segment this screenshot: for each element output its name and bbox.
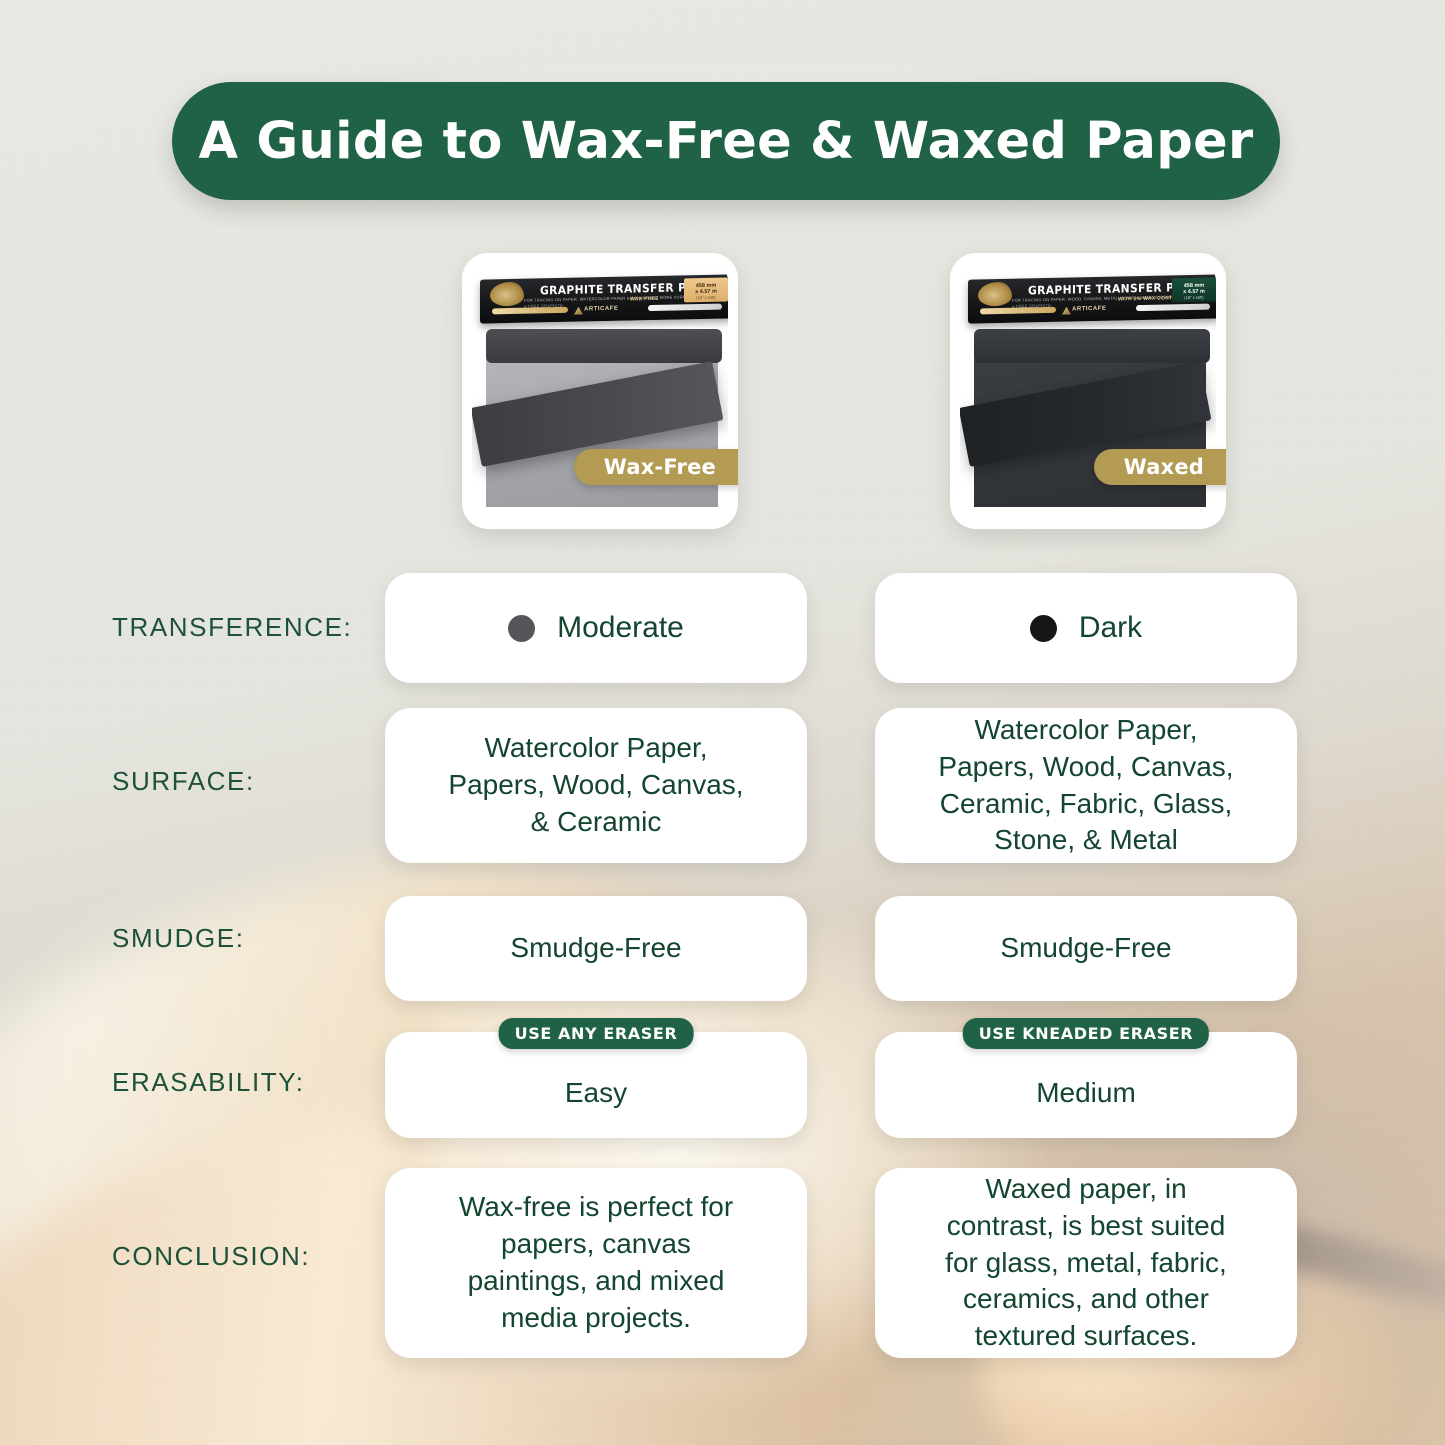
cell-conclusion-wax-free: Wax-free is perfect for papers, canvas p…: [385, 1168, 807, 1358]
row-label-surface: SURFACE:: [112, 766, 255, 797]
value-conclusion-left: Wax-free is perfect for papers, canvas p…: [459, 1189, 733, 1337]
cell-smudge-wax-free: Smudge-Free: [385, 896, 807, 1001]
lion-logo-icon: [490, 282, 524, 307]
box-spec-line3-right: (18" x 15ft): [1172, 294, 1216, 300]
box-white-bar-right: [1136, 304, 1210, 312]
product-badge-waxed: Waxed: [1094, 449, 1226, 485]
box-brand-right: ARTICAFE: [1072, 306, 1106, 313]
cell-erasability-wax-free: USE ANY ERASER Easy: [385, 1032, 807, 1138]
box-white-bar-left: [648, 304, 722, 312]
brand-mark-icon: [1062, 306, 1071, 314]
box-wax-label-left: WAX-FREE: [630, 296, 659, 303]
sheet-roll-left: [486, 329, 722, 363]
title-banner: A Guide to Wax-Free & Waxed Paper: [172, 82, 1280, 200]
value-erasability-right: Medium: [1036, 1075, 1136, 1112]
cell-surface-wax-free: Watercolor Paper, Papers, Wood, Canvas, …: [385, 708, 807, 863]
dot-value-right: Dark: [1030, 608, 1142, 648]
product-box-waxed: GRAPHITE TRANSFER PAPER FOR TRACING ON P…: [968, 274, 1216, 323]
transference-dot-icon-right: [1030, 615, 1057, 642]
product-card-wax-free[interactable]: GRAPHITE TRANSFER PAPER FOR TRACING ON P…: [462, 253, 738, 529]
row-label-transference: TRANSFERENCE:: [112, 612, 352, 643]
cell-surface-waxed: Watercolor Paper, Papers, Wood, Canvas, …: [875, 708, 1297, 863]
value-conclusion-right: Waxed paper, in contrast, is best suited…: [945, 1171, 1227, 1356]
product-badge-label-right: Waxed: [1124, 455, 1204, 479]
cell-transference-wax-free: Moderate: [385, 573, 807, 683]
box-brand-left: ARTICAFE: [584, 306, 618, 313]
box-spec-left: 458 mm x 4.57 m (18" x 15ft): [684, 277, 728, 302]
box-spec-right: 458 mm x 4.57 m (18" x 15ft): [1172, 277, 1216, 302]
title-pill: A Guide to Wax-Free & Waxed Paper: [172, 82, 1280, 200]
product-badge-label-left: Wax-Free: [604, 455, 716, 479]
cell-transference-waxed: Dark: [875, 573, 1297, 683]
box-spec-line3-left: (18" x 15ft): [684, 294, 728, 300]
eraser-badge-right: USE KNEADED ERASER: [963, 1018, 1209, 1049]
box-color-bar-left: [492, 307, 568, 315]
page-title: A Guide to Wax-Free & Waxed Paper: [199, 112, 1254, 171]
row-label-erasability: ERASABILITY:: [112, 1067, 305, 1098]
product-badge-wax-free: Wax-Free: [574, 449, 738, 485]
value-transference-right: Dark: [1079, 608, 1142, 648]
product-box-wax-free: GRAPHITE TRANSFER PAPER FOR TRACING ON P…: [480, 274, 728, 323]
dot-value-left: Moderate: [508, 608, 684, 648]
eraser-badge-left: USE ANY ERASER: [499, 1018, 694, 1049]
box-color-bar-right: [980, 307, 1056, 315]
value-smudge-right: Smudge-Free: [1000, 930, 1171, 967]
value-transference-left: Moderate: [557, 608, 684, 648]
cell-smudge-waxed: Smudge-Free: [875, 896, 1297, 1001]
row-label-conclusion: CONCLUSION:: [112, 1241, 310, 1272]
value-smudge-left: Smudge-Free: [510, 930, 681, 967]
lion-logo-icon: [978, 282, 1012, 307]
brand-mark-icon: [574, 306, 583, 314]
value-erasability-left: Easy: [565, 1075, 627, 1112]
value-surface-right: Watercolor Paper, Papers, Wood, Canvas, …: [938, 712, 1233, 860]
value-surface-left: Watercolor Paper, Papers, Wood, Canvas, …: [448, 730, 743, 841]
product-card-waxed[interactable]: GRAPHITE TRANSFER PAPER FOR TRACING ON P…: [950, 253, 1226, 529]
cell-conclusion-waxed: Waxed paper, in contrast, is best suited…: [875, 1168, 1297, 1358]
sheet-roll-right: [974, 329, 1210, 363]
transference-dot-icon-left: [508, 615, 535, 642]
row-label-smudge: SMUDGE:: [112, 923, 245, 954]
cell-erasability-waxed: USE KNEADED ERASER Medium: [875, 1032, 1297, 1138]
